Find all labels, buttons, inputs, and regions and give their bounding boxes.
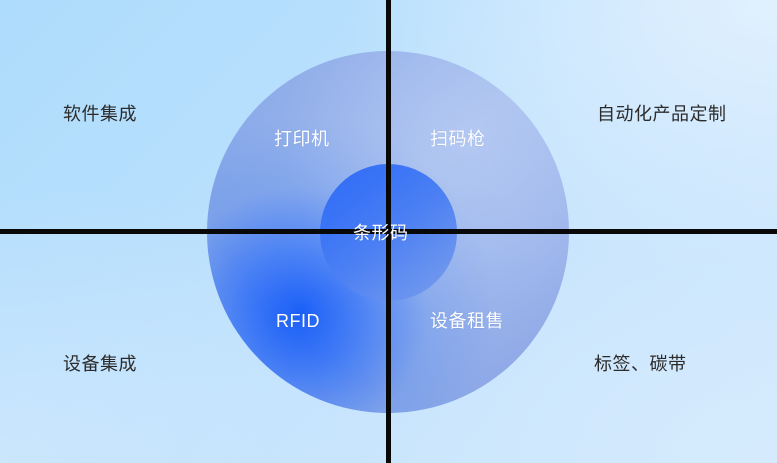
quadrant-label-device-integration: 设备集成: [63, 355, 137, 373]
ring-label-printer: 打印机: [274, 130, 330, 148]
diagram-canvas: 软件集成 自动化产品定制 设备集成 标签、碳带 打印机 扫码枪 RFID 设备租…: [0, 0, 777, 463]
quadrant-label-labels-ribbon: 标签、碳带: [594, 355, 687, 373]
quadrant-label-automation-custom: 自动化产品定制: [597, 105, 727, 123]
ring-label-rfid: RFID: [276, 312, 320, 330]
core-label-barcode: 条形码: [353, 224, 409, 242]
ring-label-device-lease: 设备租售: [430, 312, 504, 330]
ring-label-scanner: 扫码枪: [430, 130, 486, 148]
quadrant-label-software-integration: 软件集成: [63, 105, 137, 123]
